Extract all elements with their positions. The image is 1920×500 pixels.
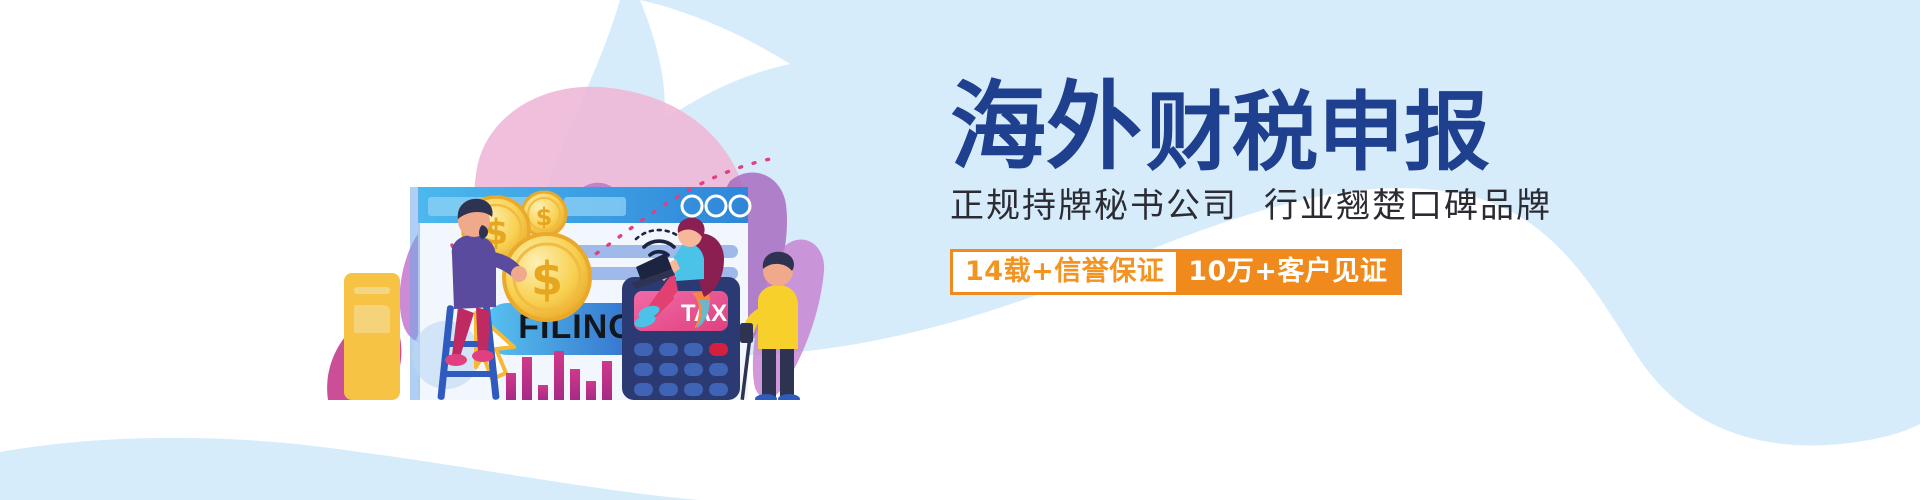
badge-clients: 10万+客户见证 [1176,249,1402,295]
document-folder [344,273,400,400]
calculator: TAX [622,277,740,400]
badge-group: 14载+信誉保证 10万+客户见证 [950,249,1590,295]
subtitle: 正规持牌秘书公司行业翘楚口碑品牌 [950,186,1590,227]
headline-svg: 海外 财税申报 [950,72,1570,180]
illustration-svg: FILING $ $ [300,55,860,400]
tax-filing-illustration: FILING $ $ [300,55,860,400]
badge-experience: 14载+信誉保证 [950,249,1176,295]
banner-text-block: 海外 财税申报 正规持牌秘书公司行业翘楚口碑品牌 14载+信誉保证 10万+客户… [950,72,1590,372]
svg-text:$: $ [531,252,563,306]
subtitle-right: 行业翘楚口碑品牌 [1264,186,1552,226]
subtitle-left: 正规持牌秘书公司 [950,186,1238,226]
headline: 海外 财税申报 [950,72,1590,180]
headline-part1: 海外 [950,72,1142,180]
headline-part2: 财税申报 [1146,83,1490,180]
svg-text:$: $ [536,203,553,231]
promo-banner: FILING $ $ [0,0,1920,500]
